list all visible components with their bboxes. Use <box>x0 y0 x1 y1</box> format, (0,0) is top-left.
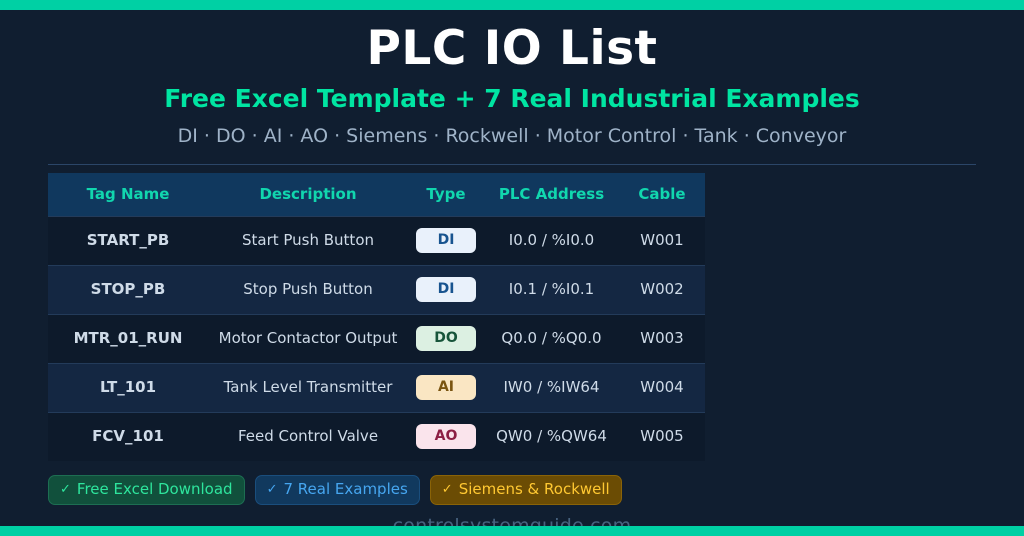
poster-canvas: PLC IO List Free Excel Template + 7 Real… <box>0 0 1024 536</box>
type-badge: DI <box>416 228 476 253</box>
page-title: PLC IO List <box>0 10 1024 73</box>
cell-plc-address: I0.0 / %I0.0 <box>484 216 619 265</box>
table-row: LT_101 Tank Level Transmitter AI IW0 / %… <box>48 363 705 412</box>
check-icon: ✓ <box>60 483 71 496</box>
type-badge: AI <box>416 375 476 400</box>
cell-description: Tank Level Transmitter <box>208 363 408 412</box>
cell-cable: W005 <box>619 412 705 461</box>
cell-description: Start Push Button <box>208 216 408 265</box>
cell-plc-address: IW0 / %IW64 <box>484 363 619 412</box>
check-icon: ✓ <box>267 483 278 496</box>
cell-tag-name: LT_101 <box>48 363 208 412</box>
cell-tag-name: MTR_01_RUN <box>48 314 208 363</box>
cell-description: Feed Control Valve <box>208 412 408 461</box>
cell-type: DI <box>408 265 484 314</box>
cell-plc-address: QW0 / %QW64 <box>484 412 619 461</box>
cell-tag-name: STOP_PB <box>48 265 208 314</box>
type-badge: DI <box>416 277 476 302</box>
chip-7-real-examples: ✓ 7 Real Examples <box>255 475 420 505</box>
cell-type: AI <box>408 363 484 412</box>
column-header-type: Type <box>408 173 484 217</box>
cell-plc-address: I0.1 / %I0.1 <box>484 265 619 314</box>
cell-cable: W004 <box>619 363 705 412</box>
table-row: START_PB Start Push Button DI I0.0 / %I0… <box>48 216 705 265</box>
header-divider <box>48 164 976 165</box>
poster-inner: PLC IO List Free Excel Template + 7 Real… <box>0 10 1024 526</box>
chip-label: Siemens & Rockwell <box>459 482 610 497</box>
io-table-body: START_PB Start Push Button DI I0.0 / %I0… <box>48 216 705 461</box>
chip-label: 7 Real Examples <box>283 482 407 497</box>
column-header-description: Description <box>208 173 408 217</box>
chip-label: Free Excel Download <box>77 482 233 497</box>
cell-description: Motor Contactor Output <box>208 314 408 363</box>
footer-site-url: controlsystemguide.com <box>0 515 1024 536</box>
cell-cable: W003 <box>619 314 705 363</box>
cell-plc-address: Q0.0 / %Q0.0 <box>484 314 619 363</box>
column-header-tag-name: Tag Name <box>48 173 208 217</box>
table-row: FCV_101 Feed Control Valve AO QW0 / %QW6… <box>48 412 705 461</box>
io-table-header-row: Tag Name Description Type PLC Address Ca… <box>48 173 705 217</box>
cell-type: AO <box>408 412 484 461</box>
io-table: Tag Name Description Type PLC Address Ca… <box>48 173 705 461</box>
column-header-plc-address: PLC Address <box>484 173 619 217</box>
chip-siemens-rockwell: ✓ Siemens & Rockwell <box>430 475 622 505</box>
feature-chip-list: ✓ Free Excel Download ✓ 7 Real Examples … <box>48 475 1024 505</box>
cell-cable: W002 <box>619 265 705 314</box>
table-row: MTR_01_RUN Motor Contactor Output DO Q0.… <box>48 314 705 363</box>
io-table-head: Tag Name Description Type PLC Address Ca… <box>48 173 705 217</box>
column-header-cable: Cable <box>619 173 705 217</box>
type-badge: DO <box>416 326 476 351</box>
cell-type: DI <box>408 216 484 265</box>
cell-tag-name: FCV_101 <box>48 412 208 461</box>
page-subtitle: Free Excel Template + 7 Real Industrial … <box>0 73 1024 113</box>
cell-tag-name: START_PB <box>48 216 208 265</box>
table-row: STOP_PB Stop Push Button DI I0.1 / %I0.1… <box>48 265 705 314</box>
io-table-container: Tag Name Description Type PLC Address Ca… <box>48 173 705 461</box>
chip-free-excel-download: ✓ Free Excel Download <box>48 475 245 505</box>
page-tagline: DI · DO · AI · AO · Siemens · Rockwell ·… <box>0 113 1024 147</box>
cell-description: Stop Push Button <box>208 265 408 314</box>
cell-cable: W001 <box>619 216 705 265</box>
check-icon: ✓ <box>442 483 453 496</box>
cell-type: DO <box>408 314 484 363</box>
type-badge: AO <box>416 424 476 449</box>
